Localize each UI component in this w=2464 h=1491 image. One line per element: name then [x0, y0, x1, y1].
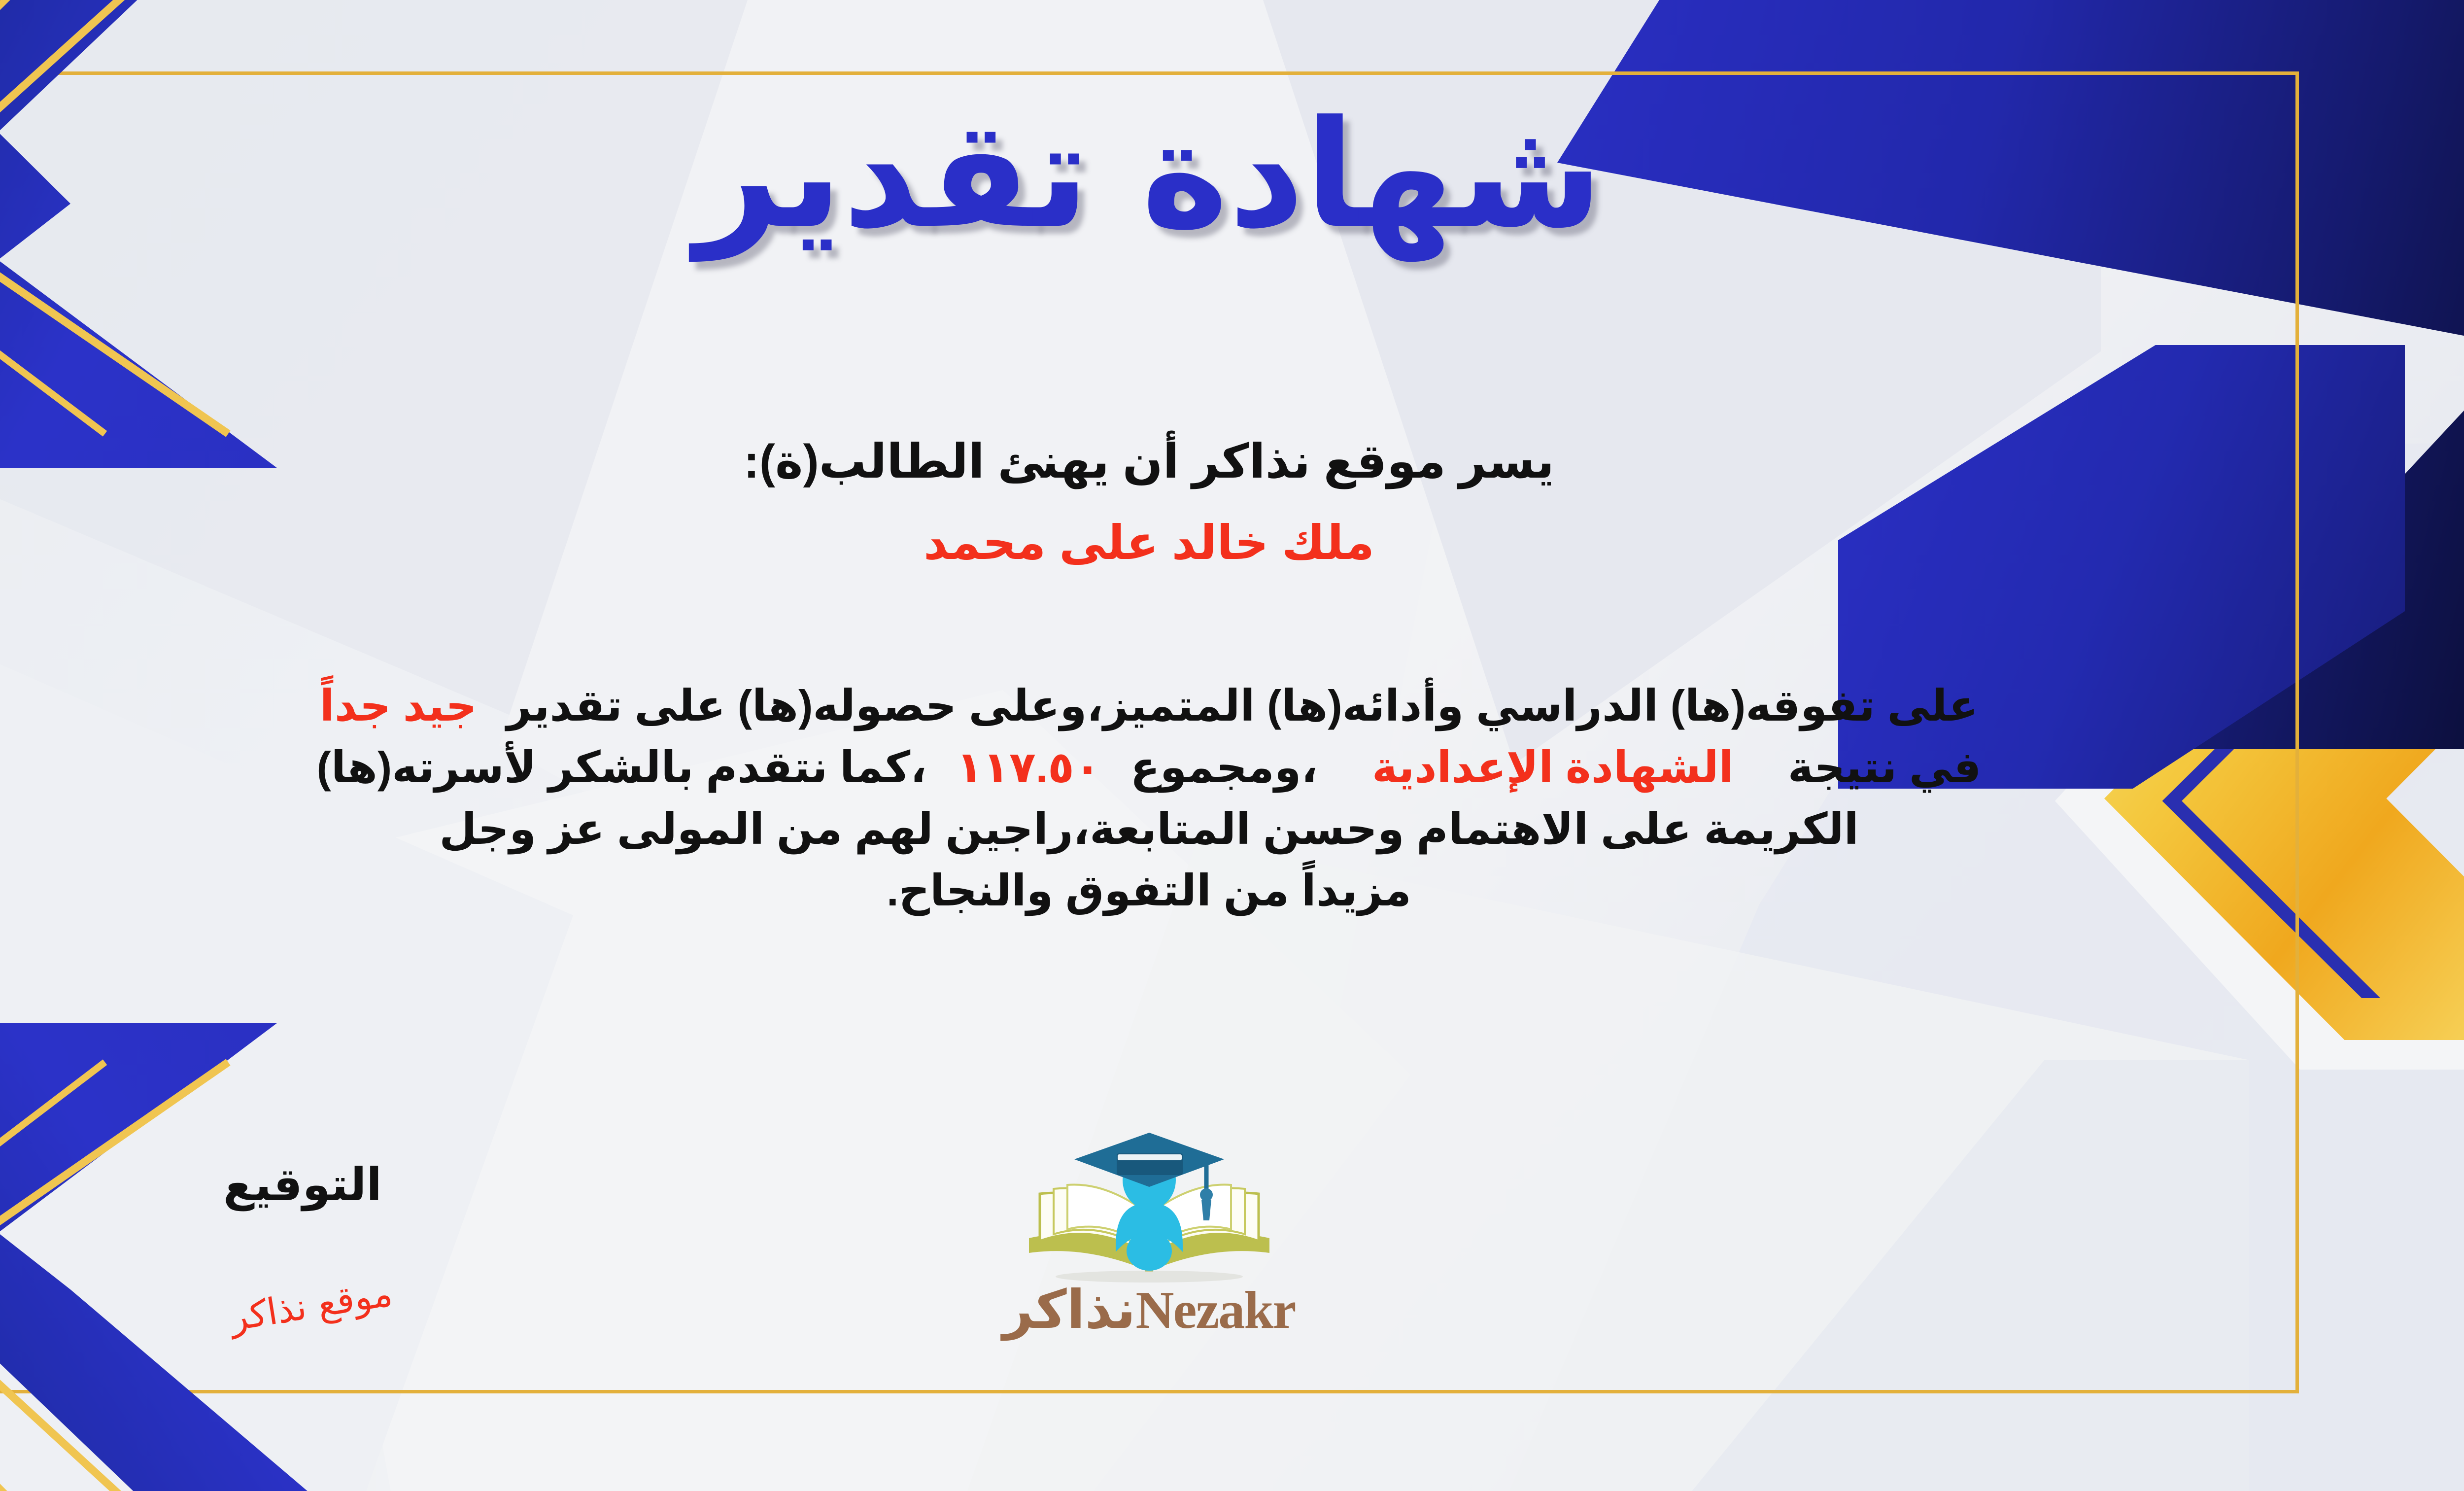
intro-text: يسر موقع نذاكر أن يهنئ الطالب(ة): — [0, 434, 2464, 489]
body-line-1: على تفوقه(ها) الدراسي وأدائه(ها) المتميز… — [0, 675, 2301, 737]
logo-word-latin: Nezakr — [1136, 1281, 1296, 1340]
logo-word-arabic: نذاكر — [1003, 1279, 1136, 1341]
signature-handwriting: موقع نذاكر — [227, 1272, 395, 1340]
grade-value: جيد جداً — [320, 681, 477, 730]
body-line-2-prefix: في نتيجة — [1788, 743, 1982, 792]
body-line-2-mid: ،ومجموع — [1130, 743, 1318, 792]
page-title: شهادة تقدير — [0, 94, 2464, 256]
body-line-2-suffix: ،كما نتقدم بالشكر لأسرته(ها) — [316, 743, 926, 792]
body-line-3: الكريمة على الاهتمام وحسن المتابعة،راجين… — [0, 798, 2301, 860]
body-line-2: في نتيجةالشهادة الإعدادية،ومجموع١١٧.٥٠،ك… — [0, 737, 2301, 798]
certificate-content: شهادة تقدير يسر موقع نذاكر أن يهنئ الطال… — [0, 0, 2464, 1491]
signature-label: التوقيع — [223, 1158, 382, 1211]
graduate-book-logo-icon — [1011, 1129, 1287, 1291]
certificate-body: على تفوقه(ها) الدراسي وأدائه(ها) المتميز… — [0, 675, 2301, 922]
student-name: ملك خالد على محمد — [0, 515, 2464, 570]
body-line-1-text: على تفوقه(ها) الدراسي وأدائه(ها) المتميز… — [507, 681, 1979, 730]
score-value: ١١٧.٥٠ — [957, 743, 1101, 792]
body-line-4: مزيداً من التفوق والنجاح. — [0, 860, 2301, 922]
exam-name: الشهادة الإعدادية — [1372, 743, 1734, 792]
site-logo: Nezakrنذاكر — [967, 1129, 1332, 1337]
certificate-canvas: شهادة تقدير يسر موقع نذاكر أن يهنئ الطال… — [0, 0, 2464, 1491]
logo-wordmark: Nezakrنذاكر — [967, 1283, 1332, 1337]
